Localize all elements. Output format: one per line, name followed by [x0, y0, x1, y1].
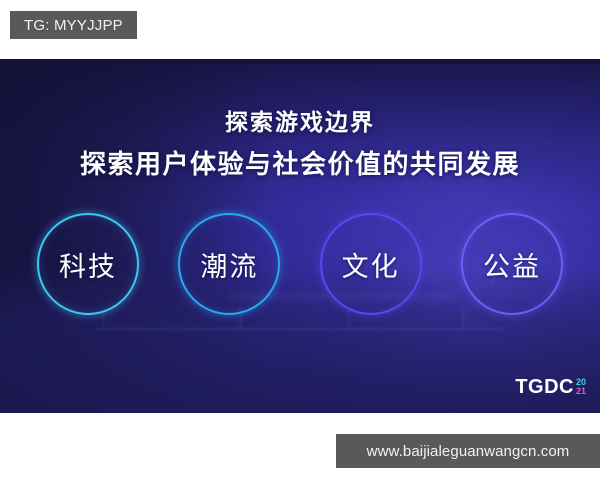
watermark-bottom-right: www.baijialeguanwangcn.com [336, 434, 600, 468]
headline-line-2: 探索用户体验与社会价值的共同发展 [0, 147, 600, 181]
theme-circle-label: 文化 [342, 245, 400, 284]
watermark-top-left-label: TG: MYYJJPP [24, 17, 123, 34]
theme-circle-trend: 潮流 [177, 212, 281, 316]
stage-line-horizontal [96, 328, 504, 330]
slide-top-bar [0, 59, 600, 64]
theme-circle-label: 潮流 [200, 245, 258, 284]
theme-circle-row: 科技 潮流 文化 公益 [36, 212, 564, 316]
tgdc-logo-year: 20 21 [576, 377, 586, 396]
theme-circle-label: 公益 [483, 245, 541, 284]
tgdc-logo: TGDC 20 21 [515, 377, 586, 397]
watermark-bottom-right-label: www.baijialeguanwangcn.com [367, 443, 570, 460]
theme-circle-culture: 文化 [319, 212, 423, 316]
tgdc-logo-year-bottom: 21 [576, 387, 586, 396]
theme-circle-label: 科技 [59, 245, 117, 284]
watermark-top-left: TG: MYYJJPP [10, 11, 137, 39]
theme-circle-public-welfare: 公益 [460, 212, 564, 316]
headline-line-1: 探索游戏边界 [0, 107, 600, 137]
tgdc-logo-text: TGDC [515, 377, 574, 397]
slide-headline: 探索游戏边界 探索用户体验与社会价值的共同发展 [0, 107, 600, 181]
presentation-slide: 探索游戏边界 探索用户体验与社会价值的共同发展 科技 潮流 文化 公益 TGDC… [0, 59, 600, 413]
theme-circle-technology: 科技 [36, 212, 140, 316]
